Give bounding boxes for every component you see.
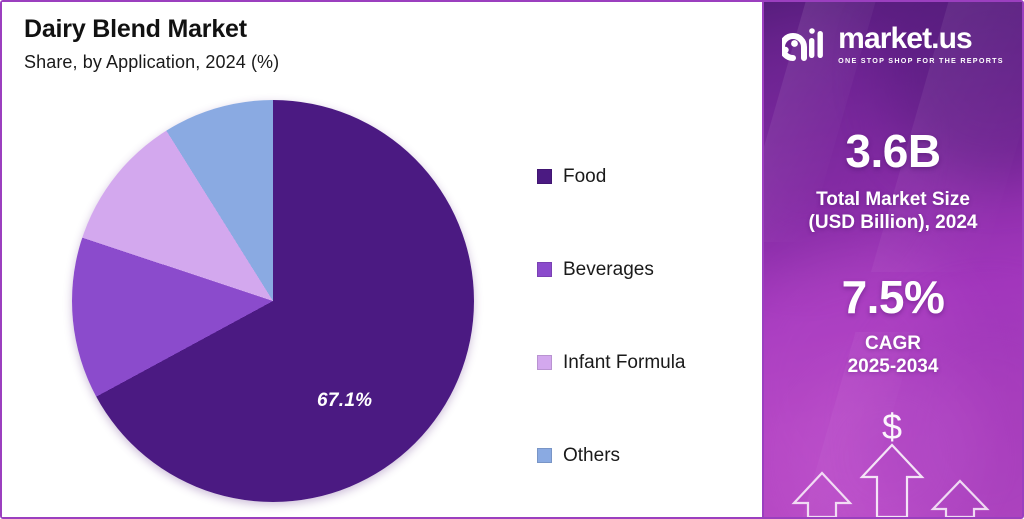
market-us-wave-icon [782,24,830,64]
logo-tagline: ONE STOP SHOP FOR THE REPORTS [838,57,1004,64]
stat-cagr-caption: CAGR2025-2034 [764,332,1022,378]
legend-label: Food [563,167,606,186]
legend-item-others[interactable]: Others [537,409,747,502]
chart-subtitle: Share, by Application, 2024 (%) [24,52,279,74]
pie-slice-label-food: 67.1% [317,390,372,412]
legend-swatch-icon [537,448,552,463]
legend-label: Others [563,446,620,465]
chart-panel: Dairy Blend Market Share, by Application… [2,2,764,517]
dollar-sign-icon: $ [882,406,902,447]
three-up-arrows-icon: $ [764,397,1022,517]
legend-item-beverages[interactable]: Beverages [537,223,747,316]
logo-text: market.us ONE STOP SHOP FOR THE REPORTS [838,24,1004,64]
legend-item-food[interactable]: Food [537,130,747,223]
brand-panel: market.us ONE STOP SHOP FOR THE REPORTS … [764,2,1022,517]
stat-cagr-value: 7.5% [764,274,1022,320]
brand-logo[interactable]: market.us ONE STOP SHOP FOR THE REPORTS [764,24,1022,64]
title-block: Dairy Blend Market Share, by Application… [24,14,279,74]
page-title: Dairy Blend Market [24,14,279,44]
stat-market-size-caption: Total Market Size(USD Billion), 2024 [764,188,1022,234]
infographic-page: Dairy Blend Market Share, by Application… [0,0,1024,519]
stat-market-size-value: 3.6B [764,128,1022,174]
legend-swatch-icon [537,355,552,370]
legend-item-infant-formula[interactable]: Infant Formula [537,316,747,409]
chart-legend: Food Beverages Infant Formula Others [537,130,747,502]
legend-swatch-icon [537,169,552,184]
legend-label: Beverages [563,260,654,279]
logo-wordmark: market.us [838,24,1004,54]
pie-chart: 67.1% [72,100,474,502]
legend-swatch-icon [537,262,552,277]
legend-label: Infant Formula [563,353,686,372]
pie-slices [72,100,474,502]
